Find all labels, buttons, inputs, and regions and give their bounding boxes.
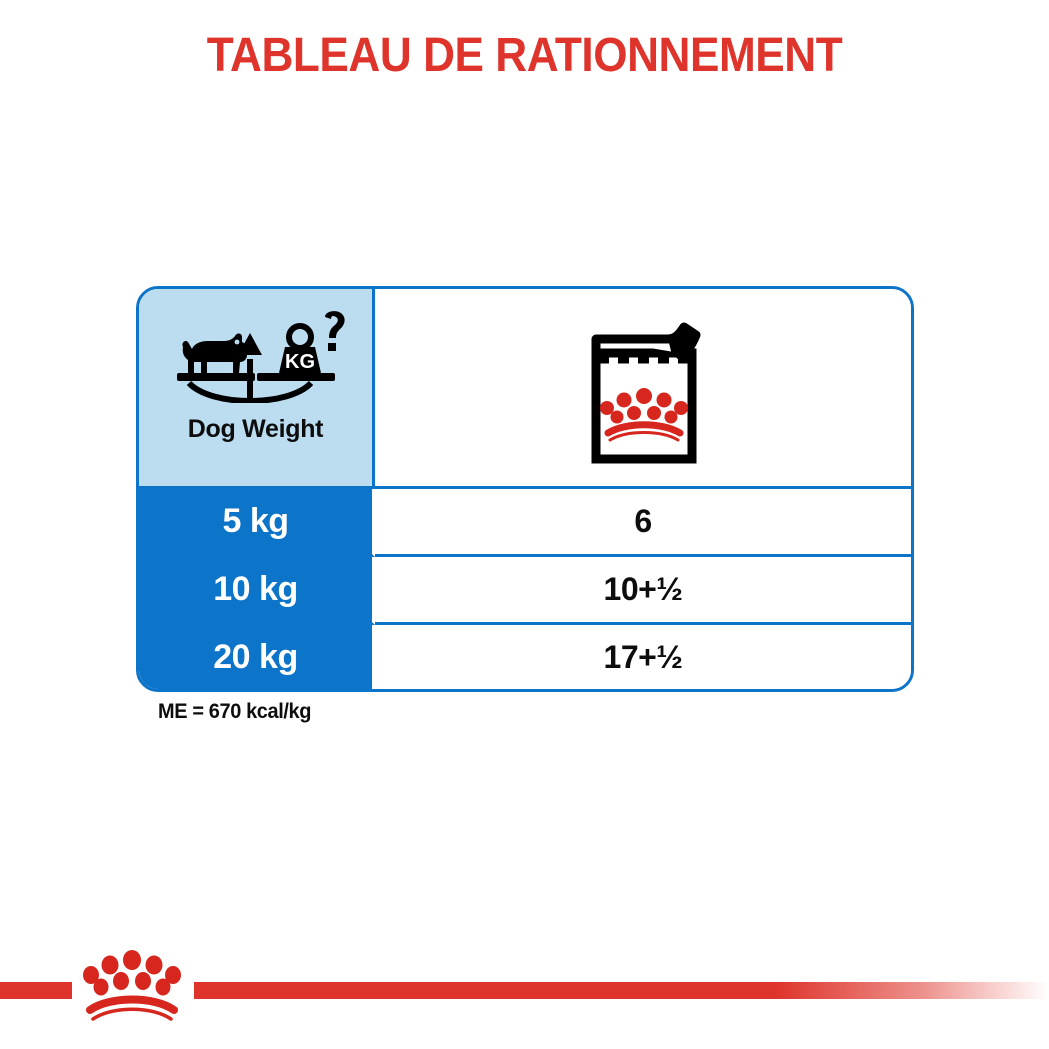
dog-weight-value: 20 kg <box>213 638 297 677</box>
pouch-sachet-icon <box>584 313 702 463</box>
table-row: 5 kg <box>139 489 375 557</box>
royal-canin-crown-logo <box>76 944 188 1030</box>
footer-brand-bar <box>0 930 1049 1049</box>
metabolizable-energy-footnote: ME = 670 kcal/kg <box>158 700 311 724</box>
table-header-dog-weight-label: Dog Weight <box>188 415 323 444</box>
table-header-product <box>375 289 911 489</box>
balance-scale-dog-weight-icon: KG <box>161 311 351 401</box>
dog-weight-value: 10 kg <box>213 570 297 609</box>
svg-text:KG: KG <box>285 351 315 373</box>
pouch-amount-value: 6 <box>634 503 651 540</box>
table-row: 10 kg <box>139 557 375 625</box>
ration-table-grid: KG Dog Weight <box>139 289 911 689</box>
page-title: TABLEAU DE RATIONNEMENT <box>42 28 1007 83</box>
footer-rule-left <box>0 982 72 999</box>
table-row: 17+½ <box>375 625 911 689</box>
table-header-dog-weight: KG Dog Weight <box>139 289 375 489</box>
pouch-amount-value: 17+½ <box>604 639 683 676</box>
ration-table: KG Dog Weight <box>136 286 914 692</box>
table-row: 20 kg <box>139 625 375 689</box>
table-row: 10+½ <box>375 557 911 625</box>
table-row: 6 <box>375 489 911 557</box>
footer-rule-right <box>194 982 1049 999</box>
pouch-amount-value: 10+½ <box>604 571 683 608</box>
dog-weight-value: 5 kg <box>222 502 288 541</box>
